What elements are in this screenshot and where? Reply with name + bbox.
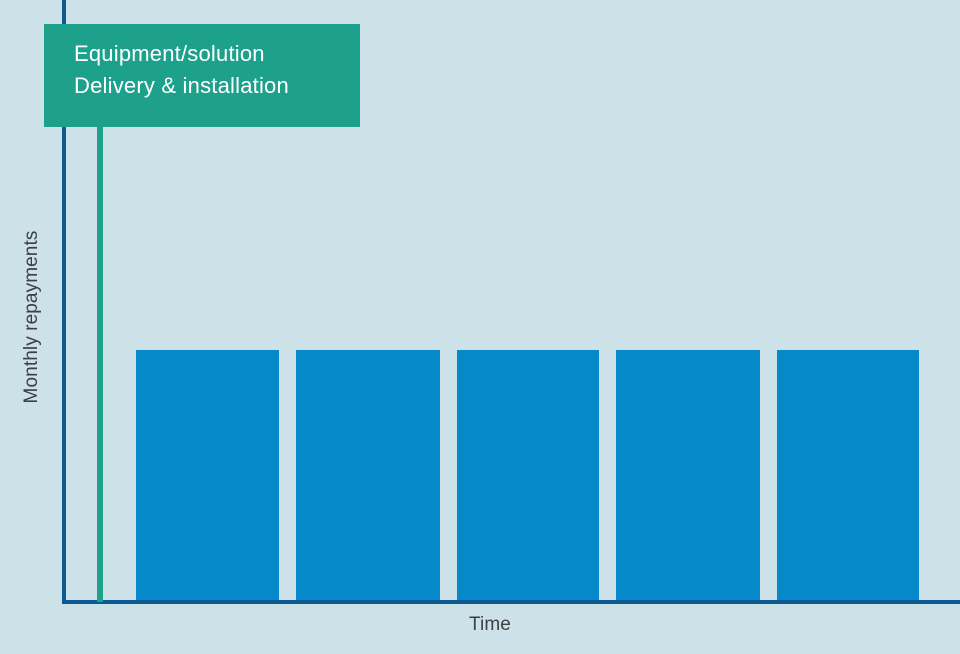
bar-1 (136, 350, 279, 604)
chart-canvas: Monthly repayments Time Equipment/soluti… (0, 0, 960, 654)
event-annotation-line-2: Delivery & installation (74, 70, 360, 102)
y-axis-title: Monthly repayments (21, 187, 43, 447)
bar-5 (777, 350, 919, 604)
event-annotation-box: Equipment/solution Delivery & installati… (44, 24, 360, 127)
bar-3 (457, 350, 599, 604)
x-axis-line (62, 600, 960, 604)
event-annotation-line-1: Equipment/solution (74, 38, 360, 70)
bar-4 (616, 350, 760, 604)
x-axis-title: Time (360, 614, 620, 636)
bar-2 (296, 350, 440, 604)
